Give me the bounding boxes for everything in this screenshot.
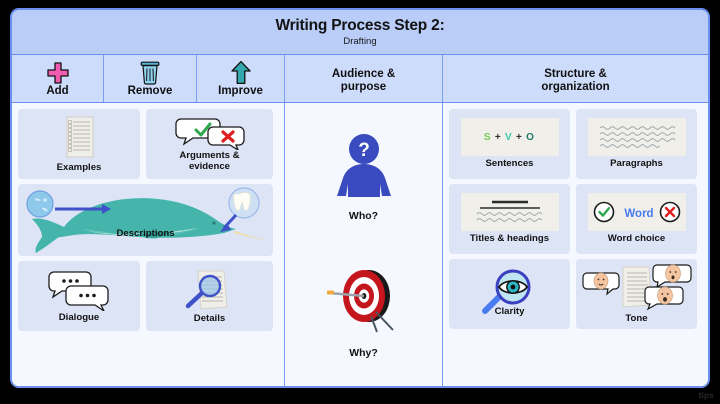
tile-details[interactable]: Details bbox=[146, 261, 273, 331]
check-word-cross-icon: Word bbox=[588, 193, 686, 231]
structure-row-2: Titles & headings Word bbox=[449, 184, 702, 254]
cell-who[interactable]: ? Who? bbox=[291, 109, 436, 245]
column-header-audience-label: Audience & purpose bbox=[332, 68, 395, 94]
up-arrow-icon bbox=[229, 59, 253, 85]
cell-who-label: Who? bbox=[349, 210, 378, 222]
tile-details-label: Details bbox=[194, 314, 225, 325]
svg-text:Word: Word bbox=[624, 208, 653, 220]
person-question-mark-icon: ? bbox=[334, 131, 394, 206]
column-header-audience-line2: purpose bbox=[332, 81, 395, 94]
tile-arguments-evidence[interactable]: Arguments & evidence bbox=[146, 109, 273, 179]
document-faces-speech-icon bbox=[581, 263, 693, 311]
trash-can-icon bbox=[139, 59, 161, 85]
tile-titles-headings[interactable]: Titles & headings bbox=[449, 184, 570, 254]
column-header-remove[interactable]: Remove bbox=[104, 55, 197, 102]
formula-plus-1: + bbox=[495, 132, 502, 143]
screenshot-root: Writing Process Step 2: Drafting Add bbox=[0, 0, 720, 404]
dartboard-arrow-icon bbox=[321, 266, 407, 343]
column-header-row: Add Remove bbox=[12, 55, 708, 103]
column-header-add[interactable]: Add bbox=[12, 55, 104, 102]
tile-examples[interactable]: Examples bbox=[18, 109, 140, 179]
tile-paragraphs-label: Paragraphs bbox=[610, 159, 663, 170]
column-header-structure-line1: Structure & bbox=[541, 68, 609, 81]
two-speech-bubbles-icon bbox=[44, 269, 114, 311]
column-header-improve-label: Improve bbox=[218, 85, 263, 98]
add-row-1: Examples Argume bbox=[18, 109, 278, 179]
tile-dialogue-label: Dialogue bbox=[59, 313, 100, 324]
column-header-remove-label: Remove bbox=[128, 85, 173, 98]
heading-and-text-lines-icon bbox=[461, 193, 559, 231]
tile-dialogue[interactable]: Dialogue bbox=[18, 261, 140, 331]
content-body: Examples Argume bbox=[12, 103, 708, 386]
formula-s: S bbox=[484, 132, 492, 143]
tile-word-choice-label: Word choice bbox=[608, 234, 665, 245]
column-header-add-label: Add bbox=[46, 85, 68, 98]
tile-arguments-evidence-line1: Arguments & bbox=[179, 151, 239, 162]
tile-arguments-evidence-label: Arguments & evidence bbox=[179, 151, 239, 172]
tile-sentences-label: Sentences bbox=[486, 159, 534, 170]
tile-arguments-evidence-line2: evidence bbox=[179, 162, 239, 173]
structure-row-1: S + V + O Sentences bbox=[449, 109, 702, 179]
tile-descriptions[interactable]: Descriptions bbox=[18, 184, 273, 256]
column-header-audience[interactable]: Audience & purpose bbox=[285, 55, 443, 102]
s-v-o-formula-icon: S + V + O bbox=[461, 118, 559, 156]
infographic-card: Writing Process Step 2: Drafting Add bbox=[10, 8, 710, 388]
pink-plus-icon bbox=[46, 59, 70, 85]
speech-bubbles-check-cross-icon bbox=[173, 116, 247, 150]
tile-clarity[interactable]: Clarity bbox=[449, 259, 570, 329]
magnifier-document-icon bbox=[184, 268, 236, 312]
tile-examples-label: Examples bbox=[57, 163, 102, 174]
formula-o: O bbox=[526, 132, 535, 143]
formula-v: V bbox=[505, 132, 513, 143]
column-header-structure[interactable]: Structure & organization bbox=[443, 55, 708, 102]
tile-sentences[interactable]: S + V + O Sentences bbox=[449, 109, 570, 179]
tile-paragraphs[interactable]: Paragraphs bbox=[576, 109, 697, 179]
svg-text:?: ? bbox=[358, 140, 370, 161]
column-structure-organization: S + V + O Sentences bbox=[443, 103, 708, 386]
column-add-remove-improve: Examples Argume bbox=[12, 103, 285, 386]
narwhal-globe-tooth-icon bbox=[18, 185, 270, 253]
tile-word-choice[interactable]: Word Word choice bbox=[576, 184, 697, 254]
page-subtitle: Drafting bbox=[343, 36, 376, 47]
column-header-structure-line2: organization bbox=[541, 81, 609, 94]
tile-clarity-label: Clarity bbox=[495, 307, 525, 318]
column-audience-purpose: ? Who? bbox=[285, 103, 443, 386]
tile-titles-headings-label: Titles & headings bbox=[470, 234, 549, 245]
column-header-structure-label: Structure & organization bbox=[541, 68, 609, 94]
tile-tone[interactable]: Tone bbox=[576, 259, 697, 329]
column-header-audience-line1: Audience & bbox=[332, 68, 395, 81]
lined-paper-list-icon bbox=[60, 115, 98, 161]
formula-plus-2: + bbox=[516, 132, 523, 143]
structure-row-3: Clarity bbox=[449, 259, 702, 329]
tile-descriptions-label: Descriptions bbox=[116, 229, 174, 240]
page-title: Writing Process Step 2: bbox=[275, 17, 444, 34]
watermark-logo: tips bbox=[699, 391, 714, 400]
cell-why[interactable]: Why? bbox=[291, 245, 436, 381]
add-row-3: Dialogue bbox=[18, 261, 278, 331]
wavy-text-lines-icon bbox=[588, 118, 686, 156]
tile-tone-label: Tone bbox=[625, 314, 647, 325]
column-header-improve[interactable]: Improve bbox=[197, 55, 285, 102]
title-bar: Writing Process Step 2: Drafting bbox=[12, 10, 708, 55]
cell-why-label: Why? bbox=[349, 347, 378, 359]
